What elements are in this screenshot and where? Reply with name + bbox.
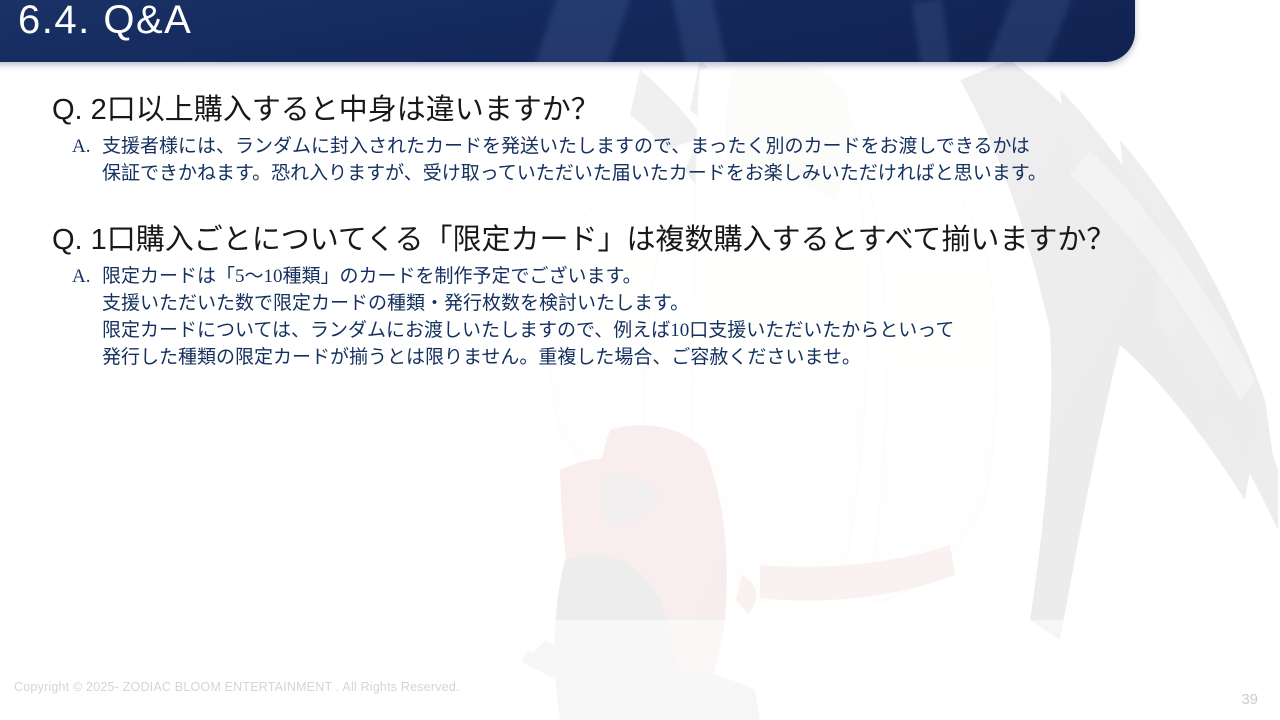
answer-line: 支援いただいた数で限定カードの種類・発行枚数を検討いたします。 (102, 291, 1280, 318)
footer-copyright: Copyright © 2025- ZODIAC BLOOM ENTERTAIN… (14, 680, 460, 694)
banner-streak-decoration (912, 0, 954, 62)
qa-content: Q. 2口以上購入すると中身は違いますか？ A. 支援者様には、ランダムに封入さ… (0, 92, 1280, 372)
answer-label: A. (72, 264, 102, 372)
answer-lines: 限定カードは「5〜10種類」のカードを制作予定でございます。 支援いただいた数で… (102, 264, 1280, 372)
answer-label: A. (72, 134, 102, 188)
page-title: 6.4. Q&A (18, 0, 192, 43)
answer-block: A. 限定カードは「5〜10種類」のカードを制作予定でございます。 支援いただい… (72, 264, 1280, 372)
page-number: 39 (1241, 691, 1258, 708)
answer-line: 限定カードは「5〜10種類」のカードを制作予定でございます。 (102, 264, 1280, 291)
question-text: Q. 1口購入ごとについてくる「限定カード」は複数購入するとすべて揃いますか？ (52, 222, 1280, 258)
header-banner: 6.4. Q&A (0, 0, 1135, 62)
answer-lines: 支援者様には、ランダムに封入されたカードを発送いたしますので、まったく別のカード… (102, 134, 1280, 188)
qa-item: Q. 1口購入ごとについてくる「限定カード」は複数購入するとすべて揃いますか？ … (0, 222, 1280, 372)
qa-spacer (0, 188, 1280, 222)
banner-streak-decoration (978, 0, 1074, 62)
answer-line: 支援者様には、ランダムに封入されたカードを発送いたしますので、まったく別のカード… (102, 134, 1280, 161)
banner-streak-decoration (665, 0, 731, 62)
banner-streak-decoration (531, 0, 635, 62)
slide-canvas: 6.4. Q&A Q. 2口以上購入すると中身は違いますか？ A. 支援者様には… (0, 0, 1280, 720)
qa-item: Q. 2口以上購入すると中身は違いますか？ A. 支援者様には、ランダムに封入さ… (0, 92, 1280, 188)
answer-line: 発行した種類の限定カードが揃うとは限りません。重複した場合、ご容赦くださいませ。 (102, 345, 1280, 372)
answer-block: A. 支援者様には、ランダムに封入されたカードを発送いたしますので、まったく別の… (72, 134, 1280, 188)
answer-line: 限定カードについては、ランダムにお渡しいたしますので、例えば10口支援いただいた… (102, 318, 1280, 345)
question-text: Q. 2口以上購入すると中身は違いますか？ (52, 92, 1280, 128)
answer-line: 保証できかねます。恐れ入りますが、受け取っていただいた届いたカードをお楽しみいた… (102, 161, 1280, 188)
